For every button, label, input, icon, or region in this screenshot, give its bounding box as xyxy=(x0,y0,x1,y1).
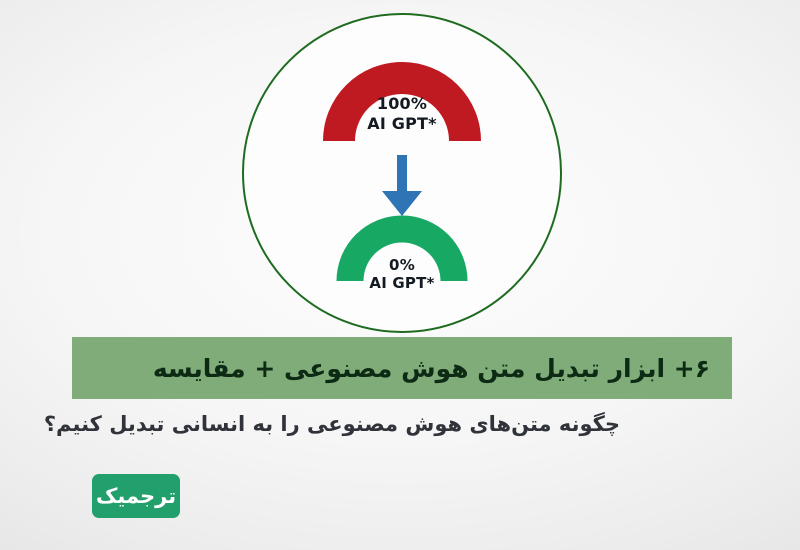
down-arrow-icon xyxy=(379,155,425,221)
brand-logo[interactable]: ترجمیک xyxy=(92,474,180,518)
title-banner: ۶+ ابزار تبدیل متن هوش مصنوعی + مقایسه xyxy=(72,337,732,399)
circular-emblem: 100% AI GPT* 0% AI GPT* xyxy=(242,13,562,333)
red-gauge-percent: 100% xyxy=(367,94,436,114)
red-gauge-source: AI GPT* xyxy=(367,114,436,134)
title-text: ۶+ ابزار تبدیل متن هوش مصنوعی + مقایسه xyxy=(153,356,710,381)
subtitle-text: چگونه متن‌های هوش مصنوعی را به انسانی تب… xyxy=(80,411,620,438)
brand-logo-text: ترجمیک xyxy=(96,486,176,507)
green-gauge-percent: 0% xyxy=(369,256,434,274)
red-gauge-label: 100% AI GPT* xyxy=(367,94,436,133)
green-gauge-source: AI GPT* xyxy=(369,274,434,292)
infographic-poster: 100% AI GPT* 0% AI GPT* ۶+ ابزار تبدیل م… xyxy=(0,0,800,550)
green-gauge-label: 0% AI GPT* xyxy=(369,256,434,293)
